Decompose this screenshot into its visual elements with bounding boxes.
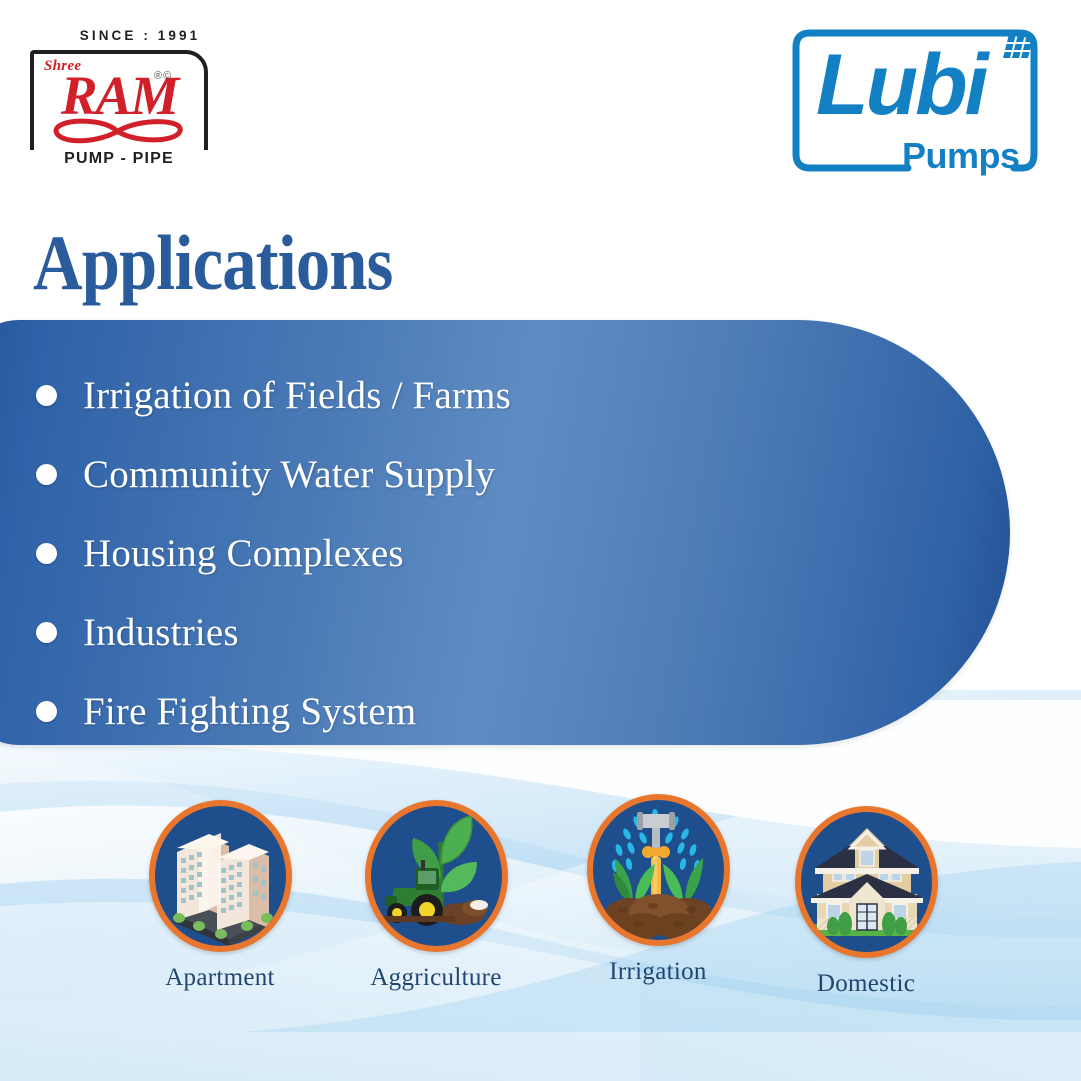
ram-swirl-icon: [48, 114, 188, 148]
list-item: Housing Complexes: [0, 514, 1010, 593]
lubi-wordmark: Lubi: [816, 42, 986, 128]
poster-canvas: SINCE : 1991 Shree RAM ®© PUMP - PIPE Lu…: [0, 0, 1081, 1081]
lubi-pumps-subtext: Pumps: [902, 138, 1020, 174]
application-label: Domestic: [776, 970, 956, 998]
apartment-circle: [149, 800, 292, 952]
bullet-icon: [36, 622, 57, 643]
list-item-label: Fire Fighting System: [83, 690, 416, 734]
list-item-label: Housing Complexes: [83, 532, 404, 576]
house-icon: [801, 812, 932, 952]
list-item-label: Industries: [83, 611, 239, 655]
trademark-mark: ®©: [154, 70, 172, 82]
domestic-circle: [795, 806, 938, 958]
pump-pipe-text: PUMP - PIPE: [30, 150, 208, 168]
since-text: SINCE : 1991: [50, 28, 230, 43]
application-label: Irrigation: [568, 958, 748, 986]
application-label: Apartment: [130, 964, 310, 992]
bullet-icon: [36, 385, 57, 406]
tractor-plant-icon: [371, 806, 502, 946]
bullet-icon: [36, 464, 57, 485]
lubi-pumps-logo: Lubi Pumps: [790, 28, 1040, 173]
apartment-buildings-icon: [155, 806, 286, 946]
application-icons-row: Apartment: [0, 780, 1081, 1040]
irrigation-circle: [587, 794, 730, 946]
applications-list: Irrigation of Fields / Farms Community W…: [0, 330, 1010, 740]
list-item: Irrigation of Fields / Farms: [0, 356, 1010, 435]
header: SINCE : 1991 Shree RAM ®© PUMP - PIPE Lu…: [0, 0, 1081, 200]
bullet-icon: [36, 701, 57, 722]
application-label: Aggriculture: [346, 964, 526, 992]
list-item-label: Irrigation of Fields / Farms: [83, 374, 511, 418]
list-item: Industries: [0, 593, 1010, 672]
list-item-label: Community Water Supply: [83, 453, 495, 497]
lubi-dot-grid-icon: [1003, 34, 1037, 64]
list-item: Community Water Supply: [0, 435, 1010, 514]
bullet-icon: [36, 543, 57, 564]
shree-ram-logo: SINCE : 1991 Shree RAM ®© PUMP - PIPE: [22, 28, 212, 173]
list-item: Fire Fighting System: [0, 672, 1010, 751]
application-item-apartment: Apartment: [130, 800, 310, 992]
application-item-domestic: Domestic: [776, 806, 956, 998]
application-item-irrigation: Irrigation: [568, 794, 748, 986]
page-title: Applications: [33, 222, 392, 304]
application-item-aggriculture: Aggriculture: [346, 800, 526, 992]
aggriculture-circle: [365, 800, 508, 952]
sprinkler-crops-icon: [593, 800, 724, 940]
